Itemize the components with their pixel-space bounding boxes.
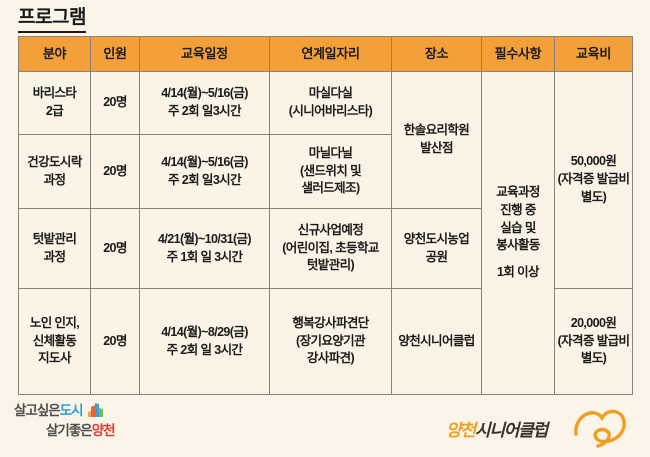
city-logo-text-part3: 살기좋은 [46, 423, 92, 438]
cell-schedule: 4/14(월)~5/16(금)주 2회 일3시간 [140, 135, 270, 209]
cell-place-row-3: 양천도시농업공원 [392, 209, 482, 289]
cell-capacity: 20명 [91, 209, 140, 289]
building-icon [86, 402, 106, 422]
yangcheon-senior-club-logo: 양천시니어클럽 [426, 404, 636, 452]
cell-linkedjob: 신규사업예정(어린이집, 초등학교텃밭관리) [270, 209, 392, 289]
cell-place-row-4: 양천시니어클럽 [392, 289, 482, 395]
footer: 살고싶은도시 살기좋은양천 양천시니어클럽 [0, 398, 650, 456]
program-table-container: 분야 인원 교육일정 연계일자리 장소 필수사항 교육비 바리스타2급 20명 … [18, 36, 632, 395]
cell-schedule: 4/14(월)~8/29(금)주 2회 일 3시간 [140, 289, 270, 395]
table-header-row: 분야 인원 교육일정 연계일자리 장소 필수사항 교육비 [19, 37, 633, 72]
senior-club-text-part1: 양천 [446, 421, 475, 440]
city-logo-text-part2: 도시 [60, 403, 83, 418]
cell-fee-row-4: 20,000원(자격증 발급비별도) [555, 289, 633, 395]
cell-linkedjob: 마실다실(시니어바리스타) [270, 72, 392, 135]
column-header-field: 분야 [19, 37, 91, 72]
cell-field: 바리스타2급 [19, 72, 91, 135]
senior-club-text-part2: 시니어클럽 [475, 421, 547, 440]
city-logo-text-part4: 양천 [92, 423, 115, 438]
column-header-fee: 교육비 [555, 37, 633, 72]
cell-field: 노인 인지,신체활동지도사 [19, 289, 91, 395]
cell-place-merged-1-2: 한솔요리학원발산점 [392, 72, 482, 209]
column-header-linkedjob: 연계일자리 [270, 37, 392, 72]
heart-swirl-icon [568, 404, 630, 457]
program-table: 분야 인원 교육일정 연계일자리 장소 필수사항 교육비 바리스타2급 20명 … [18, 36, 633, 395]
yangcheon-city-logo: 살고싶은도시 살기좋은양천 [14, 402, 115, 440]
cell-schedule: 4/21(월)~10/31(금)주 1회 일 3시간 [140, 209, 270, 289]
cell-field: 건강도시락과정 [19, 135, 91, 209]
column-header-place: 장소 [392, 37, 482, 72]
cell-field: 텃밭관리과정 [19, 209, 91, 289]
cell-linkedjob: 마닐다닐(샌드위치 및샐러드제조) [270, 135, 392, 209]
column-header-required: 필수사항 [482, 37, 555, 72]
cell-fee-merged-1-3: 50,000원(자격증 발급비별도) [555, 72, 633, 289]
column-header-capacity: 인원 [91, 37, 140, 72]
cell-capacity: 20명 [91, 72, 140, 135]
column-header-schedule: 교육일정 [140, 37, 270, 72]
cell-capacity: 20명 [91, 289, 140, 395]
cell-schedule: 4/14(월)~5/16(금)주 2회 일3시간 [140, 72, 270, 135]
cell-capacity: 20명 [91, 135, 140, 209]
cell-linkedjob: 행복강사파견단(장기요양기관강사파견) [270, 289, 392, 395]
table-row: 바리스타2급 20명 4/14(월)~5/16(금)주 2회 일3시간 마실다실… [19, 72, 633, 135]
city-logo-text-part1: 살고싶은 [14, 403, 60, 418]
page-title: 프로그램 [18, 6, 86, 33]
cell-required-merged-all: 교육과정진행 중실습 및봉사활동1회 이상 [482, 72, 555, 395]
